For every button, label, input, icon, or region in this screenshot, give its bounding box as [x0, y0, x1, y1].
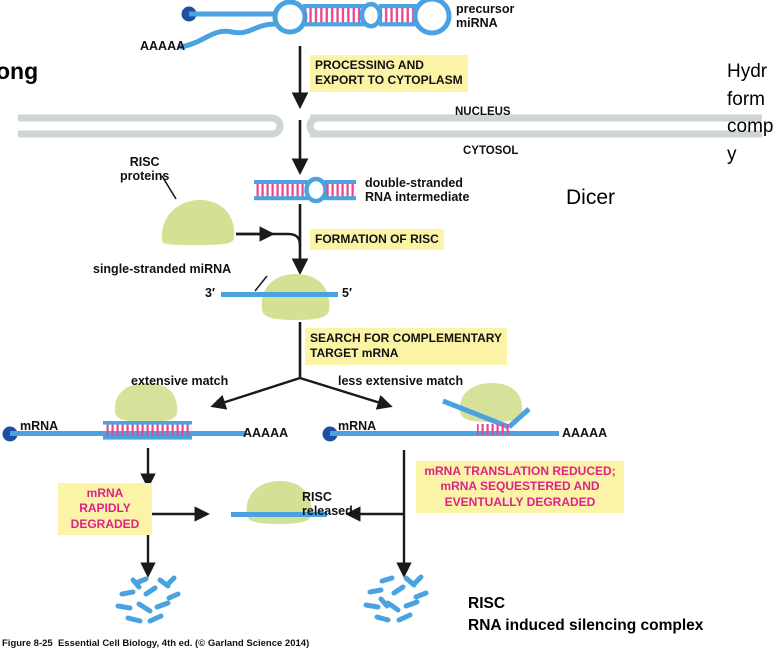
mrna-fragments-right	[366, 577, 426, 620]
dsrna-rungs-right	[326, 183, 354, 197]
basepair-rungs-left	[105, 424, 190, 437]
label-single-stranded-mirna: single-stranded miRNA	[93, 262, 231, 276]
risc-acronym-label: RISC	[468, 594, 505, 615]
highlight-processing-export: PROCESSING AND EXPORT TO CYTOPLASM	[310, 55, 468, 92]
basepair-rungs-2	[381, 7, 417, 23]
precursor-mirna-structure	[181, 0, 449, 47]
label-cytosol: CYTOSOL	[463, 145, 518, 158]
mirna-strand	[221, 292, 338, 297]
label-extensive-match: extensive match	[131, 374, 228, 388]
basepair-rungs-right	[477, 424, 511, 435]
risc-expansion-label: RNA induced silencing complex	[468, 616, 703, 637]
basepair-rungs-1	[305, 7, 363, 23]
clipped-title-fragment: ong	[0, 58, 38, 85]
label-risc-released: RISC released	[302, 490, 353, 519]
risc-loaded-complex	[221, 274, 338, 320]
dsrna-intermediate	[254, 179, 356, 201]
hairpin-internal-bulge	[362, 4, 380, 26]
label-dsrna-intermediate: double-stranded RNA intermediate	[365, 176, 469, 205]
label-dicer: Dicer	[566, 186, 615, 210]
label-nucleus: NUCLEUS	[455, 106, 511, 119]
risc-blob-left	[115, 383, 177, 422]
highlight-formation-of-risc: FORMATION OF RISC	[310, 229, 444, 250]
label-polya-left: AAAAA	[243, 426, 288, 440]
hairpin-loop-right	[415, 0, 449, 33]
dsrna-rungs-left	[256, 183, 306, 197]
nuclear-envelope	[18, 118, 762, 134]
risc-protein-blob	[162, 200, 234, 245]
mrna-fragments-left	[118, 578, 178, 621]
ssmirna-leader-line	[255, 276, 267, 291]
left-branch-extensive-match	[3, 383, 247, 575]
hairpin-loop-left	[275, 2, 305, 32]
label-less-extensive-match: less extensive match	[338, 374, 463, 388]
label-polya-right: AAAAA	[562, 426, 607, 440]
label-three-prime: 3′	[205, 286, 215, 300]
label-five-prime: 5′	[342, 286, 352, 300]
figure-caption: Figure 8-25 Essential Cell Biology, 4th …	[2, 638, 309, 649]
highlight-search-target: SEARCH FOR COMPLEMENTARY TARGET mRNA	[305, 328, 507, 365]
dsrna-bulge-loop	[307, 179, 326, 201]
label-precursor-mirna: precursor miRNA	[456, 2, 514, 31]
clipped-right-note: Hydr form comp y	[727, 58, 773, 168]
risc-blob-right	[460, 383, 522, 422]
label-polya-top: AAAAA	[140, 39, 185, 53]
arrow-risc-joins	[236, 234, 300, 246]
label-mrna-right: mRNA	[338, 419, 376, 433]
highlight-translation-reduced: mRNA TRANSLATION REDUCED; mRNA SEQUESTER…	[416, 461, 624, 513]
figure-canvas: ong precursor miRNA AAAAA PROCESSING AND…	[0, 0, 780, 660]
poly-a-tail-strand	[181, 24, 276, 47]
highlight-rapid-degradation: mRNA RAPIDLY DEGRADED	[58, 483, 152, 535]
label-mrna-left: mRNA	[20, 419, 58, 433]
label-risc-proteins: RISC proteins	[120, 155, 169, 184]
